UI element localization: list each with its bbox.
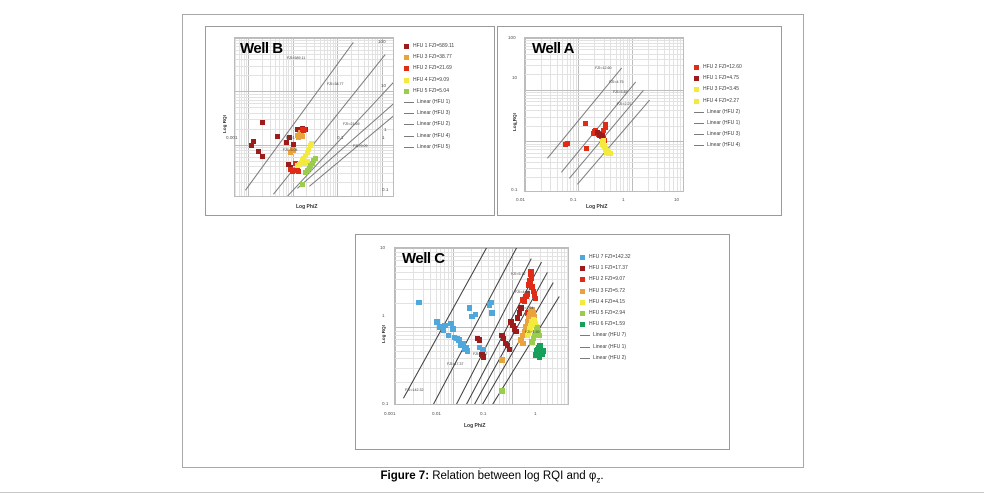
trendline-label: FZI=2.94 [519, 306, 533, 310]
panel-title-well-b: Well B [240, 40, 283, 57]
legend-line-icon [580, 347, 590, 348]
plot-area-well-b: FZI=589.11FZI=38.77FZI=21.69FZI=9.09FZI=… [234, 37, 394, 197]
legend-well-b: HFU 1 FZI=589.11HFU 3 FZI=38.77HFU 2 FZI… [404, 41, 454, 153]
y-axis-tick: 100 [508, 35, 516, 40]
legend-label: Linear (HFU 7) [593, 333, 626, 338]
data-point [489, 310, 495, 316]
data-point [499, 388, 505, 394]
x-axis-tick: 0.1 [337, 135, 343, 140]
x-axis-tick: 1 [534, 411, 537, 416]
caption-text: Relation between log RQI and φ [429, 470, 596, 482]
legend-label: Linear (HFU 4) [707, 143, 740, 148]
legend-label: HFU 1 FZI=4.75 [703, 76, 739, 81]
caption-label: Figure 7: [380, 470, 429, 482]
legend-label: Linear (HFU 2) [593, 356, 626, 361]
legend-line-icon [404, 147, 414, 148]
legend-item-series: HFU 5 FZI=5.04 [404, 86, 454, 97]
caption-tail: . [600, 470, 603, 482]
legend-item-series: HFU 4 FZI=9.09 [404, 75, 454, 86]
data-point [251, 139, 256, 144]
trendline-label: FZI=4.75 [609, 80, 623, 84]
y-axis-tick: 10 [380, 245, 385, 250]
legend-item-series: HFU 3 FZI=5.72 [580, 286, 631, 297]
legend-label: HFU 4 FZI=2.27 [703, 99, 739, 104]
legend-marker-icon [580, 311, 585, 316]
data-point [520, 341, 526, 347]
data-point [275, 134, 280, 139]
legend-label: HFU 4 FZI=4.15 [589, 300, 625, 305]
data-point [499, 357, 505, 363]
legend-line-icon [580, 335, 590, 336]
legend-label: Linear (HFU 3) [417, 111, 450, 116]
figure-outer-frame: FZI=589.11FZI=38.77FZI=21.69FZI=9.09FZI=… [182, 14, 804, 468]
data-point [473, 312, 479, 318]
legend-label: HFU 2 FZI=12.60 [703, 65, 742, 70]
data-point [489, 300, 495, 306]
legend-line-icon [404, 136, 414, 137]
legend-label: Linear (HFU 1) [593, 345, 626, 350]
x-axis-label-well-b: Log PhiZ [296, 204, 317, 210]
y-axis-label-well-c: Log RQI [381, 325, 386, 343]
legend-item-series: HFU 5 FZI=2.94 [580, 308, 631, 319]
legend-item-series: HFU 2 FZI=12.60 [694, 62, 742, 73]
data-point [446, 333, 452, 339]
data-point [565, 141, 570, 146]
data-point [584, 146, 589, 151]
legend-item-trendline: Linear (HFU 1) [580, 342, 631, 353]
data-point [477, 337, 483, 343]
legend-marker-icon [404, 66, 409, 71]
gridlines-well-a [525, 38, 683, 191]
legend-item-series: HFU 3 FZI=38.77 [404, 52, 454, 63]
trendline-label: FZI=38.77 [327, 82, 343, 86]
legend-item-trendline: Linear (HFU 2) [404, 119, 454, 130]
legend-item-trendline: Linear (HFU 2) [580, 353, 631, 364]
legend-item-series: HFU 3 FZI=3.45 [694, 84, 742, 95]
data-point [540, 348, 546, 354]
legend-marker-icon [694, 76, 699, 81]
data-point [608, 151, 613, 156]
legend-line-icon [694, 123, 704, 124]
y-axis-tick: 0.1 [382, 401, 388, 406]
legend-label: HFU 4 FZI=9.09 [413, 78, 449, 83]
legend-line-icon [694, 134, 704, 135]
data-point [467, 305, 473, 311]
legend-marker-icon [580, 300, 585, 305]
legend-marker-icon [404, 78, 409, 83]
data-point [260, 120, 265, 125]
data-point [309, 141, 314, 146]
x-axis-tick: 0.1 [570, 197, 576, 202]
legend-label: Linear (HFU 2) [707, 110, 740, 115]
trendline-label: FZI=12.60 [595, 66, 611, 70]
y-axis-tick: 1 [384, 127, 387, 132]
data-point [260, 154, 265, 159]
legend-label: HFU 1 FZI=589.11 [413, 44, 454, 49]
legend-label: Linear (HFU 1) [707, 121, 740, 126]
x-axis-label-well-c: Log PhiZ [464, 423, 485, 429]
legend-item-series: HFU 4 FZI=4.15 [580, 297, 631, 308]
legend-label: HFU 2 FZI=9.07 [589, 277, 625, 282]
legend-marker-icon [694, 99, 699, 104]
trendline-label: FZI=9.07 [473, 352, 487, 356]
gridlines-well-c [395, 248, 568, 404]
legend-label: HFU 2 FZI=21.69 [413, 66, 452, 71]
data-point [300, 182, 305, 187]
data-point [529, 275, 535, 281]
x-axis-tick: 10 [674, 197, 679, 202]
x-axis-tick: 0.01 [516, 197, 525, 202]
legend-item-series: HFU 7 FZI=142.32 [580, 252, 631, 263]
data-point [465, 348, 471, 354]
data-point [296, 169, 301, 174]
data-point [313, 156, 318, 161]
y-axis-tick: 100 [378, 39, 386, 44]
data-point [513, 329, 519, 335]
panel-title-well-a: Well A [532, 40, 574, 57]
trendline-label: FZI=17.37 [447, 362, 463, 366]
trendline-label: FZI=21.69 [343, 122, 359, 126]
panel-title-well-c: Well C [402, 250, 445, 267]
legend-item-trendline: Linear (HFU 1) [404, 97, 454, 108]
legend-item-trendline: Linear (HFU 2) [694, 107, 742, 118]
legend-item-series: HFU 1 FZI=4.75 [694, 73, 742, 84]
data-point [537, 354, 543, 360]
legend-line-icon [404, 124, 414, 125]
data-point [601, 138, 606, 143]
legend-item-series: HFU 6 FZI=1.59 [580, 319, 631, 330]
y-axis-tick: 0.1 [511, 187, 517, 192]
plot-area-well-a: FZI=12.60FZI=4.75FZI=3.45FZI=2.27 [524, 37, 684, 192]
trendline-label: FZI=1.59 [525, 330, 539, 334]
data-point [284, 140, 289, 145]
legend-marker-icon [404, 89, 409, 94]
legend-label: HFU 5 FZI=5.04 [413, 89, 449, 94]
legend-item-series: HFU 4 FZI=2.27 [694, 96, 742, 107]
legend-marker-icon [694, 65, 699, 70]
data-point [603, 122, 608, 127]
y-axis-tick: 1 [382, 313, 385, 318]
legend-marker-icon [404, 44, 409, 49]
x-axis-tick: 0.01 [432, 411, 441, 416]
y-axis-tick: 0.1 [382, 187, 388, 192]
x-axis-tick: 0.001 [384, 411, 396, 416]
x-axis-label-well-a: Log PhiZ [586, 204, 607, 210]
legend-line-icon [580, 358, 590, 359]
data-point [416, 300, 422, 306]
legend-item-trendline: Linear (HFU 5) [404, 142, 454, 153]
y-axis-tick: 10 [512, 75, 517, 80]
legend-label: HFU 7 FZI=142.32 [589, 255, 631, 260]
legend-label: Linear (HFU 2) [417, 122, 450, 127]
trendline-label: FZI=589.11 [287, 56, 305, 60]
legend-well-c: HFU 7 FZI=142.32HFU 1 FZI=17.37HFU 2 FZI… [580, 252, 631, 364]
data-point [442, 323, 448, 329]
legend-label: Linear (HFU 1) [417, 100, 450, 105]
data-point [515, 315, 521, 321]
chart-panel-well-a: FZI=12.60FZI=4.75FZI=3.45FZI=2.27 Well A… [497, 26, 782, 216]
x-axis-tick: 0.1 [480, 411, 486, 416]
trendline-label: FZI=3.45 [613, 90, 627, 94]
legend-marker-icon [580, 322, 585, 327]
stray-mark [479, 467, 481, 469]
x-axis-tick: 1 [622, 197, 625, 202]
figure-page: FZI=589.11FZI=38.77FZI=21.69FZI=9.09FZI=… [0, 0, 984, 497]
legend-item-trendline: Linear (HFU 3) [694, 129, 742, 140]
legend-item-trendline: Linear (HFU 1) [694, 118, 742, 129]
legend-label: Linear (HFU 3) [707, 132, 740, 137]
legend-line-icon [694, 112, 704, 113]
legend-line-icon [404, 102, 414, 103]
figure-caption: Figure 7: Relation between log RQI and φ… [0, 470, 984, 484]
y-axis-tick: 1 [515, 119, 518, 124]
trendline-label: FZI=5.72 [511, 272, 525, 276]
data-point [533, 296, 539, 302]
trendline-label: FZI=9.09 [353, 144, 367, 148]
footer-rule [0, 492, 984, 493]
data-point [507, 347, 513, 353]
trendline-label: FZI=142.32 [405, 388, 423, 392]
legend-marker-icon [580, 289, 585, 294]
legend-item-series: HFU 2 FZI=21.69 [404, 63, 454, 74]
data-point [517, 310, 523, 316]
trendline-label: FZI=2.27 [617, 102, 631, 106]
legend-label: HFU 3 FZI=3.45 [703, 87, 739, 92]
legend-line-icon [694, 145, 704, 146]
legend-item-series: HFU 2 FZI=9.07 [580, 274, 631, 285]
x-axis-tick: 1 [382, 135, 385, 140]
chart-panel-well-b: FZI=589.11FZI=38.77FZI=21.69FZI=9.09FZI=… [205, 26, 495, 216]
x-axis-tick: 0.01 [286, 135, 295, 140]
legend-item-trendline: Linear (HFU 3) [404, 108, 454, 119]
data-point [302, 127, 307, 132]
legend-marker-icon [404, 55, 409, 60]
legend-item-trendline: Linear (HFU 7) [580, 330, 631, 341]
data-point [300, 134, 305, 139]
legend-marker-icon [580, 255, 585, 260]
legend-item-trendline: Linear (HFU 4) [404, 131, 454, 142]
legend-marker-icon [694, 87, 699, 92]
y-axis-tick: 10 [381, 83, 386, 88]
legend-label: HFU 3 FZI=5.72 [589, 289, 625, 294]
legend-item-series: HFU 1 FZI=17.37 [580, 263, 631, 274]
y-axis-label-well-b: Log RQI [222, 115, 227, 133]
plot-area-well-c: FZI=142.32FZI=17.37FZI=9.07FZI=5.72FZI=4… [394, 247, 569, 405]
legend-marker-icon [580, 277, 585, 282]
trendline-label: FZI=4.15 [515, 290, 529, 294]
data-point [522, 299, 528, 305]
data-point [528, 269, 534, 275]
legend-label: Linear (HFU 5) [417, 145, 450, 150]
legend-line-icon [404, 113, 414, 114]
legend-label: HFU 6 FZI=1.59 [589, 322, 625, 327]
legend-item-trendline: Linear (HFU 4) [694, 140, 742, 151]
data-point [529, 339, 535, 345]
data-point [249, 143, 254, 148]
legend-marker-icon [580, 266, 585, 271]
trendline-label: FZI=5.04 [283, 148, 297, 152]
legend-label: Linear (HFU 4) [417, 134, 450, 139]
legend-label: HFU 5 FZI=2.94 [589, 311, 625, 316]
data-point [450, 326, 456, 332]
legend-item-series: HFU 1 FZI=589.11 [404, 41, 454, 52]
legend-label: HFU 1 FZI=17.37 [589, 266, 628, 271]
legend-well-a: HFU 2 FZI=12.60HFU 1 FZI=4.75HFU 3 FZI=3… [694, 62, 742, 152]
data-point [583, 121, 588, 126]
chart-panel-well-c: FZI=142.32FZI=17.37FZI=9.07FZI=5.72FZI=4… [355, 234, 730, 450]
legend-label: HFU 3 FZI=38.77 [413, 55, 452, 60]
x-axis-tick: 0.001 [226, 135, 238, 140]
